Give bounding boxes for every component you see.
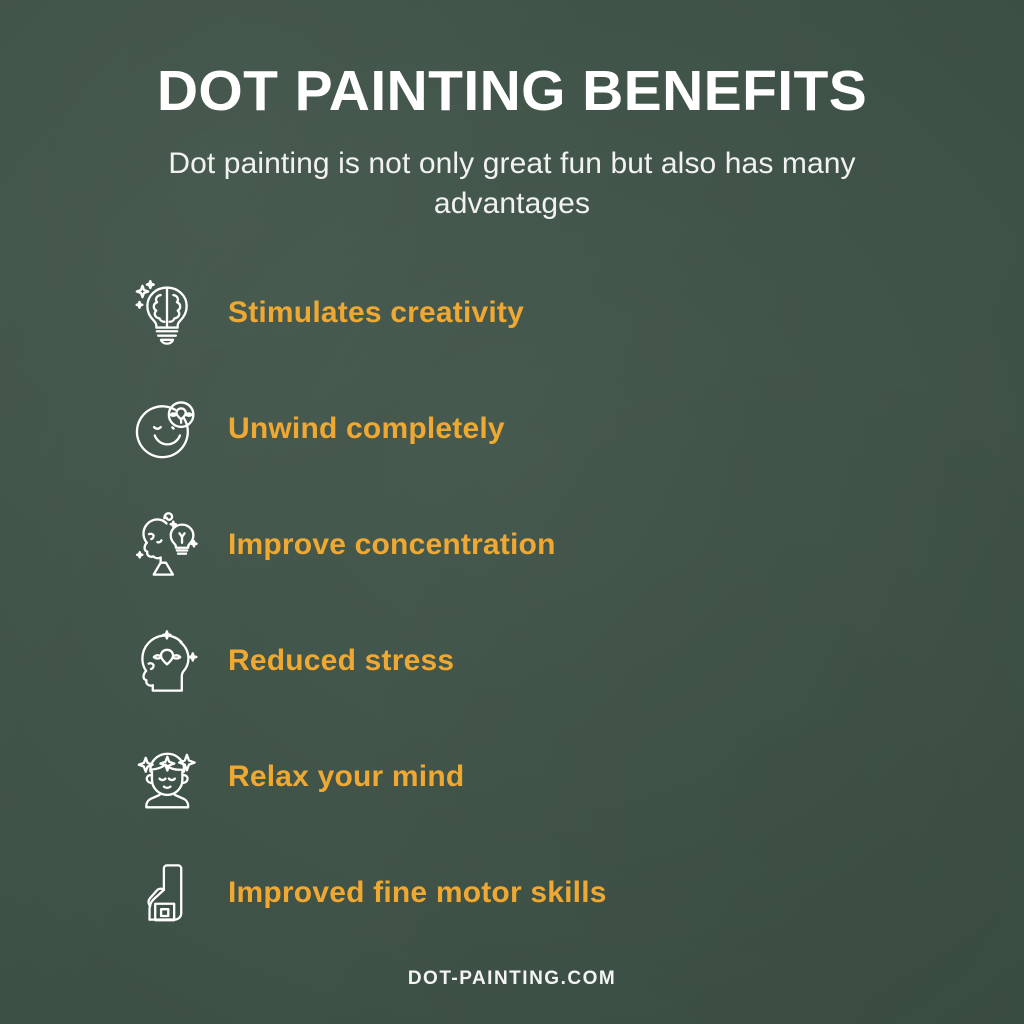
poster-footer: DOT-PAINTING.COM (0, 968, 1024, 990)
list-item: Improve concentration (128, 498, 964, 592)
benefit-label: Improved fine motor skills (228, 876, 607, 910)
list-item: Relax your mind (128, 730, 964, 824)
list-item: Reduced stress (128, 614, 964, 708)
list-item: Stimulates creativity (128, 266, 964, 360)
benefit-label: Stimulates creativity (228, 296, 524, 330)
list-item: Unwind completely (128, 382, 964, 476)
benefit-label: Reduced stress (228, 644, 454, 678)
benefit-label: Relax your mind (228, 760, 464, 794)
benefits-list: Stimulates creativity Unwind completely (128, 266, 964, 962)
benefit-label: Improve concentration (228, 528, 556, 562)
poster-header: DOT PAINTING BENEFITS Dot painting is no… (0, 0, 1024, 224)
smiling-face-flower-icon (128, 390, 206, 468)
list-item: Improved fine motor skills (128, 846, 964, 940)
hand-holding-block-icon (128, 854, 206, 932)
relaxed-face-sparkle-icon (128, 738, 206, 816)
head-profile-lightbulb-icon (128, 506, 206, 584)
brain-lightbulb-sparkle-icon (128, 274, 206, 352)
benefit-label: Unwind completely (228, 412, 505, 446)
head-lotus-sparkle-icon (128, 622, 206, 700)
page-title: DOT PAINTING BENEFITS (0, 62, 1024, 122)
page-subtitle: Dot painting is not only great fun but a… (142, 144, 882, 224)
website-url: DOT-PAINTING.COM (408, 968, 616, 989)
benefits-poster: DOT PAINTING BENEFITS Dot painting is no… (0, 0, 1024, 1024)
